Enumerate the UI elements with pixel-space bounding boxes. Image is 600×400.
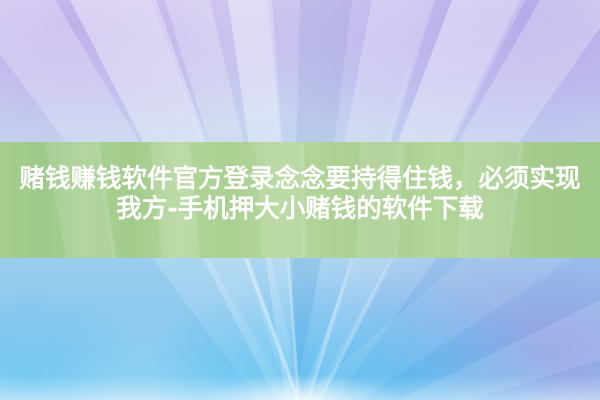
bottom-watermark-glow [0,374,600,400]
headline-line-2: 我方-手机押大小赌钱的软件下载 [0,194,600,224]
headline-text: 赌钱赚钱软件官方登录念念要持得住钱，必须实现 我方-手机押大小赌钱的软件下载 [0,164,600,224]
headline-line-1: 赌钱赚钱软件官方登录念念要持得住钱，必须实现 [0,164,600,194]
promo-banner: 赌钱赚钱软件官方登录念念要持得住钱，必须实现 我方-手机押大小赌钱的软件下载 [0,0,600,400]
